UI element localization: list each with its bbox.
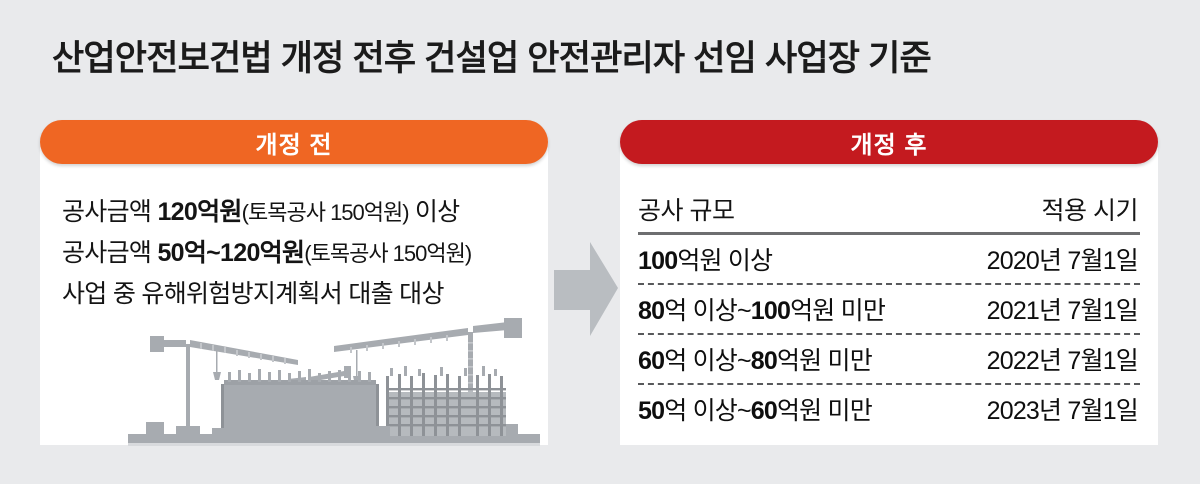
column-header-scale: 공사 규모: [638, 186, 948, 232]
revised-criteria-table: 공사 규모 적용 시기 100억원 이상 2020년 7월1일 80억 이상~1…: [638, 186, 1140, 433]
scale-2-bold2: 100: [751, 297, 790, 325]
left-panel-header: 개정 전: [40, 120, 548, 164]
scale-2-rest2: 억원 미만: [790, 297, 885, 325]
criteria-1-note: (토목공사 150억원): [242, 200, 409, 225]
table-row: 100억원 이상 2020년 7월1일: [638, 235, 1140, 283]
table-row: 80억 이상~100억원 미만 2021년 7월1일: [638, 285, 1140, 333]
scale-2-rest: 억 이상~: [664, 297, 751, 325]
left-panel-header-label: 개정 전: [256, 125, 333, 160]
cell-date-2: 2021년 7월1일: [948, 285, 1140, 333]
criteria-2-note: (토목공사 150억원): [304, 241, 471, 266]
scale-3-rest2: 억원 미만: [777, 347, 872, 375]
cell-scale-1: 100억원 이상: [638, 235, 948, 283]
criteria-line-3: 사업 중 유해위험방지계획서 대출 대상: [62, 274, 532, 314]
right-panel-header-label: 개정 후: [851, 125, 928, 160]
table-header: 공사 규모 적용 시기: [638, 186, 1140, 235]
construction-site-cranes-illustration: [128, 318, 540, 446]
left-panel-criteria-list: 공사금액 120억원(토목공사 150억원) 이상 공사금액 50억~120억원…: [62, 192, 532, 314]
scale-4-bold2: 60: [751, 397, 777, 425]
table-row: 50억 이상~60억원 미만 2023년 7월1일: [638, 385, 1140, 433]
criteria-2-amount: 50억~120억원: [157, 239, 304, 267]
criteria-1-suffix: 이상: [409, 198, 460, 226]
scale-4-rest2: 억원 미만: [777, 397, 872, 425]
cell-scale-2: 80억 이상~100억원 미만: [638, 285, 948, 333]
cell-date-1: 2020년 7월1일: [948, 235, 1140, 283]
scale-3-bold: 60: [638, 347, 664, 375]
scale-3-rest: 억 이상~: [664, 347, 751, 375]
transition-arrow-icon: [552, 236, 620, 344]
scale-4-rest: 억 이상~: [664, 397, 751, 425]
criteria-line-2: 공사금액 50억~120억원(토목공사 150억원): [62, 233, 532, 274]
right-panel-header: 개정 후: [620, 120, 1158, 164]
infographic-root: 산업안전보건법 개정 전후 건설업 안전관리자 선임 사업장 기준 개정 전 공…: [0, 0, 1200, 484]
criteria-3-text: 사업 중 유해위험방지계획서 대출 대상: [62, 280, 444, 308]
scale-2-bold: 80: [638, 297, 664, 325]
table-body: 100억원 이상 2020년 7월1일 80억 이상~100억원 미만 2021…: [638, 235, 1140, 433]
cell-scale-3: 60억 이상~80억원 미만: [638, 335, 948, 383]
cell-date-3: 2022년 7월1일: [948, 335, 1140, 383]
criteria-line-1: 공사금액 120억원(토목공사 150억원) 이상: [62, 192, 532, 233]
table-header-row: 공사 규모 적용 시기: [638, 186, 1140, 232]
scale-3-bold2: 80: [751, 347, 777, 375]
page-title: 산업안전보건법 개정 전후 건설업 안전관리자 선임 사업장 기준: [52, 36, 1152, 82]
scale-1-rest: 억원 이상: [677, 247, 772, 275]
scale-1-bold: 100: [638, 247, 677, 275]
criteria-2-prefix: 공사금액: [62, 239, 157, 267]
table-row: 60억 이상~80억원 미만 2022년 7월1일: [638, 335, 1140, 383]
cell-scale-4: 50억 이상~60억원 미만: [638, 385, 948, 433]
scale-4-bold: 50: [638, 397, 664, 425]
column-header-date: 적용 시기: [948, 186, 1140, 232]
criteria-1-prefix: 공사금액: [62, 198, 157, 226]
criteria-1-amount: 120억원: [157, 198, 241, 226]
cell-date-4: 2023년 7월1일: [948, 385, 1140, 433]
